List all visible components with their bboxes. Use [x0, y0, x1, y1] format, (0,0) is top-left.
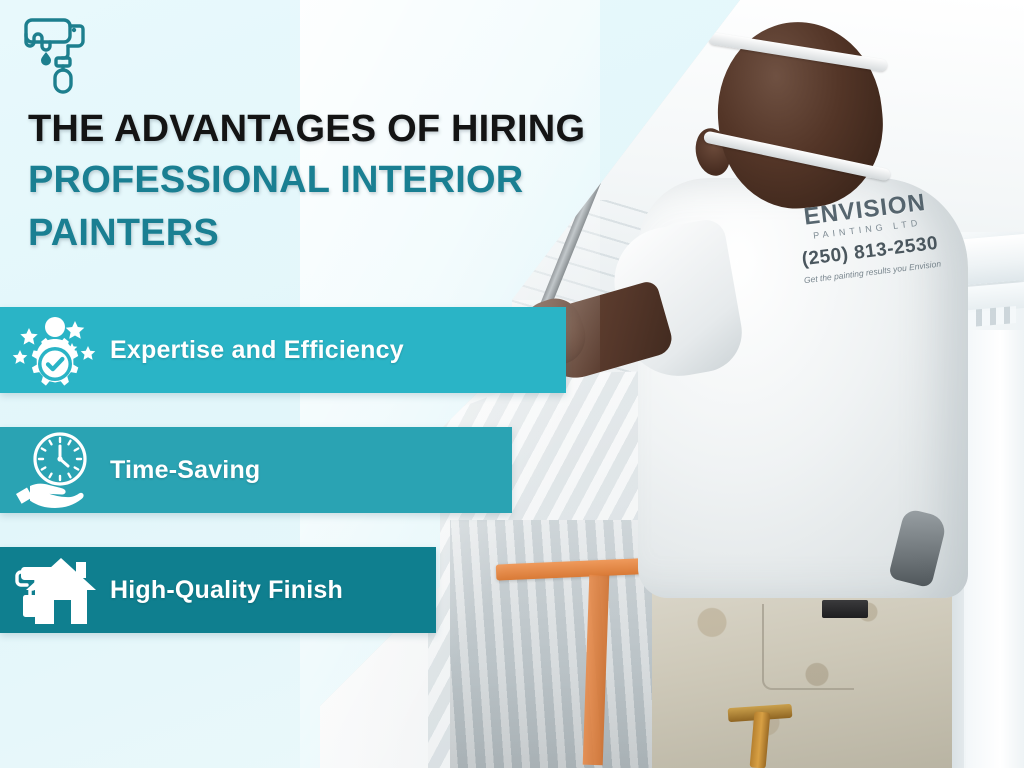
feature-label-expertise: Expertise and Efficiency — [110, 336, 404, 365]
house-paint-roller-icon — [0, 550, 110, 630]
page-title: THE ADVANTAGES OF HIRING PROFESSIONAL IN… — [28, 108, 648, 258]
feature-label-time-saving: Time-Saving — [110, 456, 260, 485]
hand-holding-clock-icon — [0, 430, 110, 510]
title-line-1: THE ADVANTAGES OF HIRING — [28, 108, 648, 151]
feature-list: Expertise and Efficiency — [0, 307, 1024, 667]
title-line-2: PROFESSIONAL INTERIOR — [28, 157, 648, 205]
feature-label-high-quality-finish: High-Quality Finish — [110, 576, 343, 605]
feature-item-time-saving[interactable]: Time-Saving — [0, 427, 512, 513]
feature-item-expertise[interactable]: Expertise and Efficiency — [0, 307, 566, 393]
title-line-3: PAINTERS — [28, 210, 648, 258]
paint-roller-icon — [18, 10, 114, 98]
feature-item-high-quality-finish[interactable]: High-Quality Finish — [0, 547, 436, 633]
poster-canvas: ENVISION PAINTING LTD (250) 813-2530 Get… — [0, 0, 1024, 768]
expertise-gear-person-stars-icon — [0, 310, 110, 390]
